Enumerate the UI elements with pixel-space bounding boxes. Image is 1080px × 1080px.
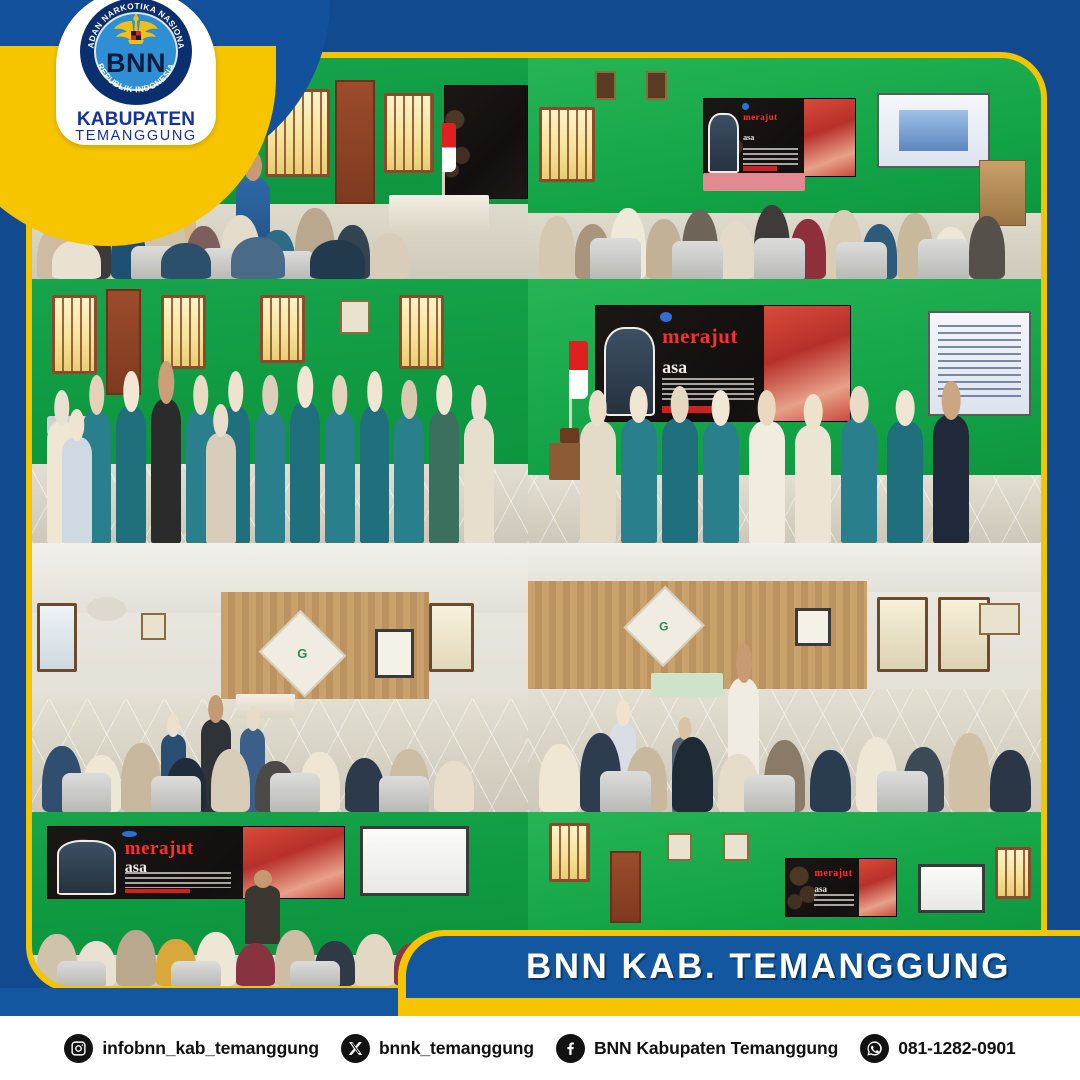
banner-subtitle: asa [743,134,754,142]
footer-item-instagram[interactable]: infobnn_kab_temanggung [64,1034,319,1063]
footer-item-whatsapp[interactable]: 081-1282-0901 [860,1034,1015,1063]
poster-canvas: merajut asa [0,0,1080,1080]
logo-kabupaten-label: KABUPATEN [77,110,195,129]
logo-temanggung-label: TEMANGGUNG [75,129,197,145]
photo-seminar-green-hall-right: merajut asa [528,58,1041,279]
x-twitter-handle: bnnk_temanggung [379,1038,534,1059]
collage-row: merajut asa [32,279,1041,543]
gemilang-logo-mark: G [647,609,681,644]
bnn-logo-badge: BADAN NARKOTIKA NASIONAL REPUBLIK INDONE… [56,0,216,145]
banner-title: merajut [743,113,778,122]
collage-row: G [32,543,1041,812]
banner-title: merajut [125,840,194,858]
instagram-handle: infobnn_kab_temanggung [102,1038,319,1059]
facebook-icon [556,1034,585,1063]
title-banner-text: BNN KAB. TEMANGGUNG [526,947,1011,987]
bnn-seal-icon: BADAN NARKOTIKA NASIONAL REPUBLIK INDONE… [77,0,195,108]
instagram-icon [64,1034,93,1063]
banner-title: merajut [814,869,852,879]
garuda-icon [112,11,160,45]
footer-contact-bar: infobnn_kab_temanggung bnnk_temanggung B… [0,1016,1080,1080]
facebook-page-name: BNN Kabupaten Temanggung [594,1038,838,1059]
banner-subtitle: asa [814,885,827,894]
title-banner: BNN KAB. TEMANGGUNG [406,936,1080,998]
footer-item-facebook[interactable]: BNN Kabupaten Temanggung [556,1034,838,1063]
bnn-acronym: BNN [106,48,166,79]
photo-group-banner: merajut asa [528,279,1041,543]
photo-gemilang-room-left: G [32,543,528,812]
whatsapp-number: 081-1282-0901 [898,1038,1015,1059]
banner-title: merajut [662,327,738,347]
x-twitter-icon [341,1034,370,1063]
photo-group-batik [32,279,528,543]
photo-gemilang-room-right: G [528,543,1041,812]
footer-item-x-twitter[interactable]: bnnk_temanggung [341,1034,534,1063]
whatsapp-icon [860,1034,889,1063]
